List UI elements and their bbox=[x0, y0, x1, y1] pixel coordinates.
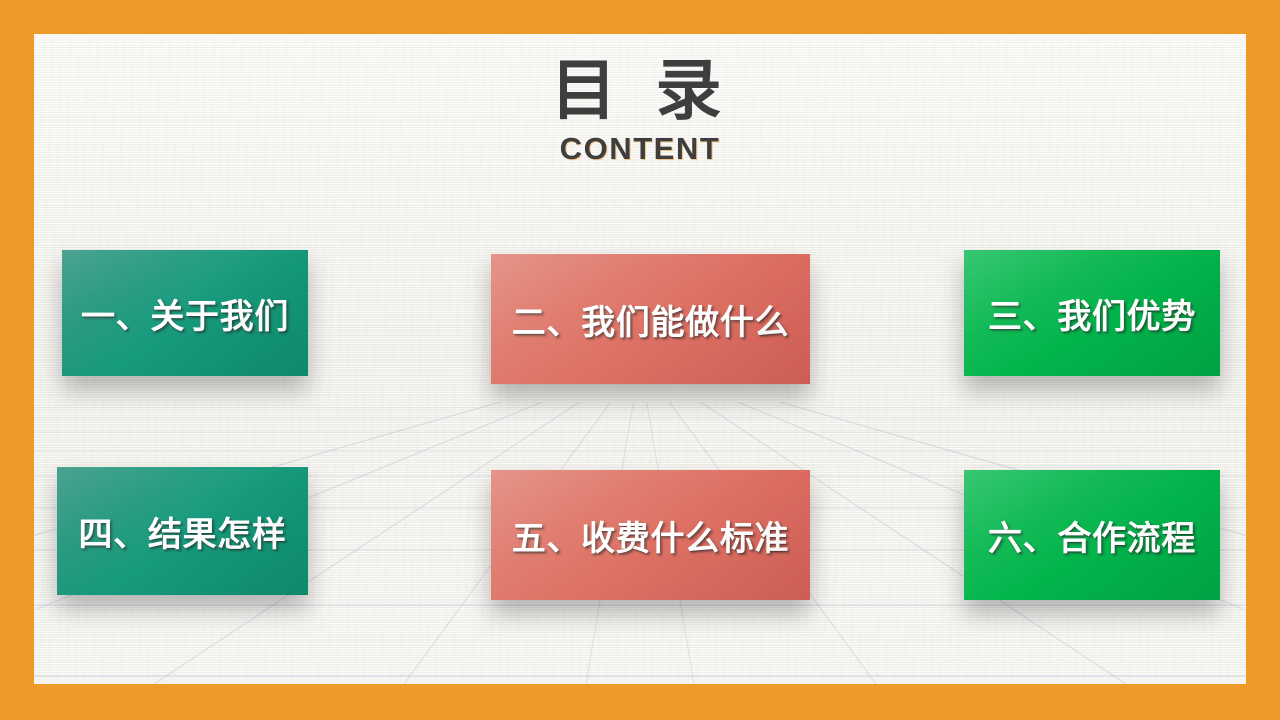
content-card-label: 五、收费什么标准 bbox=[512, 511, 789, 560]
content-card-label: 一、关于我们 bbox=[81, 289, 289, 338]
content-card-label: 四、结果怎样 bbox=[78, 507, 286, 556]
content-card-6[interactable]: 六、合作流程 bbox=[964, 470, 1220, 600]
slide-header: 目 录 CONTENT bbox=[34, 34, 1246, 167]
page-subtitle: CONTENT bbox=[34, 125, 1246, 167]
content-card-1[interactable]: 一、关于我们 bbox=[62, 250, 308, 376]
content-card-3[interactable]: 三、我们优势 bbox=[964, 250, 1220, 376]
page-title: 目 录 bbox=[34, 34, 1246, 125]
slide-panel: 目 录 CONTENT 一、关于我们 二、我们能做什么 三、我们优势 四、结果怎… bbox=[34, 34, 1246, 684]
content-card-4[interactable]: 四、结果怎样 bbox=[57, 467, 308, 595]
content-card-label: 三、我们优势 bbox=[988, 289, 1196, 338]
slide-canvas: 目 录 CONTENT 一、关于我们 二、我们能做什么 三、我们优势 四、结果怎… bbox=[0, 0, 1280, 720]
content-card-2[interactable]: 二、我们能做什么 bbox=[491, 254, 810, 384]
content-card-5[interactable]: 五、收费什么标准 bbox=[491, 470, 810, 600]
content-card-label: 六、合作流程 bbox=[988, 511, 1196, 560]
content-card-label: 二、我们能做什么 bbox=[512, 295, 789, 344]
